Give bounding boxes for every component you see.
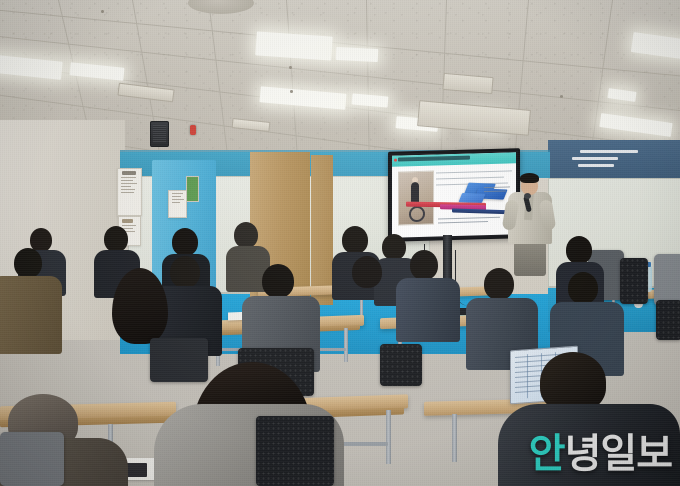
ceiling-sensor-dot: [289, 66, 292, 69]
signage-text-bar: [578, 164, 614, 167]
attendee-head: [170, 256, 200, 288]
presenter-trousers: [514, 242, 546, 276]
watermark-text: 안녕일보: [529, 431, 672, 477]
ceiling-sensor-dot: [560, 95, 563, 98]
attendee-head: [234, 222, 258, 248]
office-chair[interactable]: [654, 254, 680, 306]
slide-title-text: [398, 156, 470, 162]
watermark-logo: 안녕일보: [529, 434, 672, 474]
presenter-hair: [520, 173, 539, 183]
slide-navy-bar: [452, 208, 506, 214]
slide-body-text-line: [436, 177, 504, 180]
attendee-torso: [396, 278, 460, 342]
attendee-head: [410, 250, 438, 280]
attendee-torso-brown-jacket: [0, 276, 62, 354]
attendee-head: [352, 256, 382, 288]
office-chair[interactable]: [256, 416, 334, 486]
slide-body-text-line: [436, 170, 512, 173]
office-chair[interactable]: [620, 258, 648, 304]
slide-bullet-icon: [394, 159, 397, 162]
slide-caption-line: [484, 186, 510, 188]
wooden-door-panel-secondary[interactable]: [311, 155, 333, 305]
attendee-head: [262, 264, 294, 298]
signage-text-bar: [572, 157, 618, 160]
signage-text-bar: [580, 150, 638, 153]
office-chair[interactable]: [0, 432, 64, 486]
slide-caption-line: [438, 217, 500, 220]
laptop-col: [527, 354, 528, 398]
ceiling-sensor-dot: [290, 90, 293, 93]
fire-alarm-icon: [190, 125, 196, 135]
attendee-head: [14, 248, 42, 278]
slide-caption-line: [438, 221, 488, 223]
seminar-room-photo: 안녕일보: [0, 0, 680, 486]
navy-signage-band: [548, 140, 680, 180]
slide-photo-wheel: [409, 206, 425, 222]
slide-title-bar: [392, 152, 516, 166]
wall-speaker: [150, 121, 169, 147]
attendee-head: [566, 236, 592, 264]
attendee-head: [568, 272, 598, 304]
desk-leg: [386, 410, 391, 464]
attendee-head: [484, 268, 514, 300]
attendee-head: [104, 226, 128, 252]
attendee-head: [172, 228, 198, 256]
office-chair[interactable]: [380, 344, 422, 386]
wall-poster: [168, 190, 187, 218]
office-chair[interactable]: [150, 338, 208, 382]
presentation-display[interactable]: [388, 148, 520, 242]
slide-photo: [398, 171, 434, 226]
watermark-accent-glyph: 안: [529, 431, 565, 477]
slide-content: [392, 152, 516, 237]
office-chair[interactable]: [656, 300, 680, 340]
ceiling-light-panel: [336, 47, 379, 62]
ceiling-sensor-dot: [101, 10, 104, 13]
desk-leg: [452, 414, 457, 462]
attendee-head: [540, 352, 606, 412]
wall-poster: [117, 168, 142, 216]
wall-poster-green: [186, 176, 199, 202]
attendee-head: [342, 226, 368, 254]
attendee-head: [382, 234, 406, 260]
microphone-head: [524, 193, 531, 199]
handout-photo: [125, 463, 147, 477]
